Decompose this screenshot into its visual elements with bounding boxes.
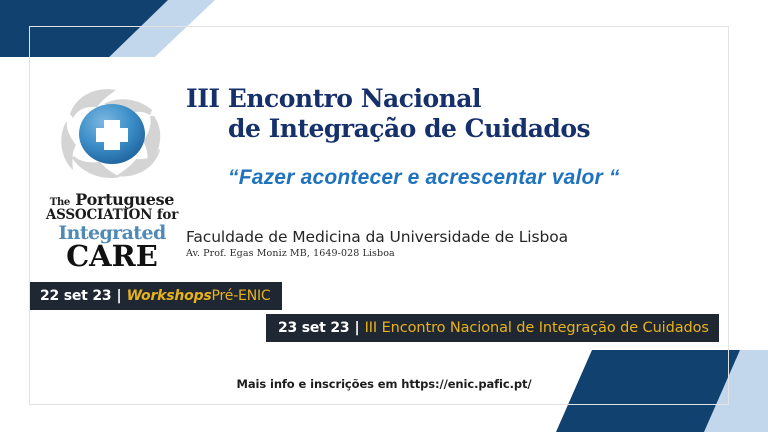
logo-line-1: The Portuguese [38, 192, 186, 208]
schedule-date-1: 22 set 23 [40, 288, 111, 304]
logo-line-2: ASSOCIATION for [38, 209, 186, 223]
event-subtitle-motto: “Fazer acontecer e acrescentar valor “ [228, 166, 620, 190]
schedule-label-1: Pré-ENIC [212, 288, 271, 304]
schedule-emphasis-1: Workshops [127, 288, 212, 304]
registration-info-text: Mais info e inscrições em https://enic.p… [0, 377, 768, 391]
schedule-date-2: 23 set 23 [278, 320, 349, 336]
event-poster-slide: The Portuguese ASSOCIATION for Integrate… [0, 0, 768, 432]
venue-block: Faculdade de Medicina da Universidade de… [186, 228, 568, 259]
hands-circle-medical-cross-emblem [42, 80, 182, 190]
logo-wordmark: The Portuguese ASSOCIATION for Integrate… [38, 192, 186, 271]
schedule-separator-1: | [116, 288, 121, 304]
schedule-separator-2: | [354, 320, 359, 336]
event-title-line-2: de Integração de Cuidados [186, 114, 706, 144]
schedule-banner-main-event: 23 set 23 | III Encontro Nacional de Int… [266, 314, 719, 342]
venue-address: Av. Prof. Egas Moniz MB, 1649-028 Lisboa [186, 248, 568, 259]
schedule-banner-workshops: 22 set 23 | Workshops Pré-ENIC [30, 282, 282, 310]
schedule-label-2: III Encontro Nacional de Integração de C… [365, 320, 709, 336]
venue-name: Faculdade de Medicina da Universidade de… [186, 228, 568, 246]
pafic-logo: The Portuguese ASSOCIATION for Integrate… [38, 80, 186, 271]
logo-line-4: CARE [38, 242, 186, 271]
event-title: III Encontro Nacional de Integração de C… [186, 84, 706, 143]
event-title-line-1: III Encontro Nacional [186, 84, 706, 114]
